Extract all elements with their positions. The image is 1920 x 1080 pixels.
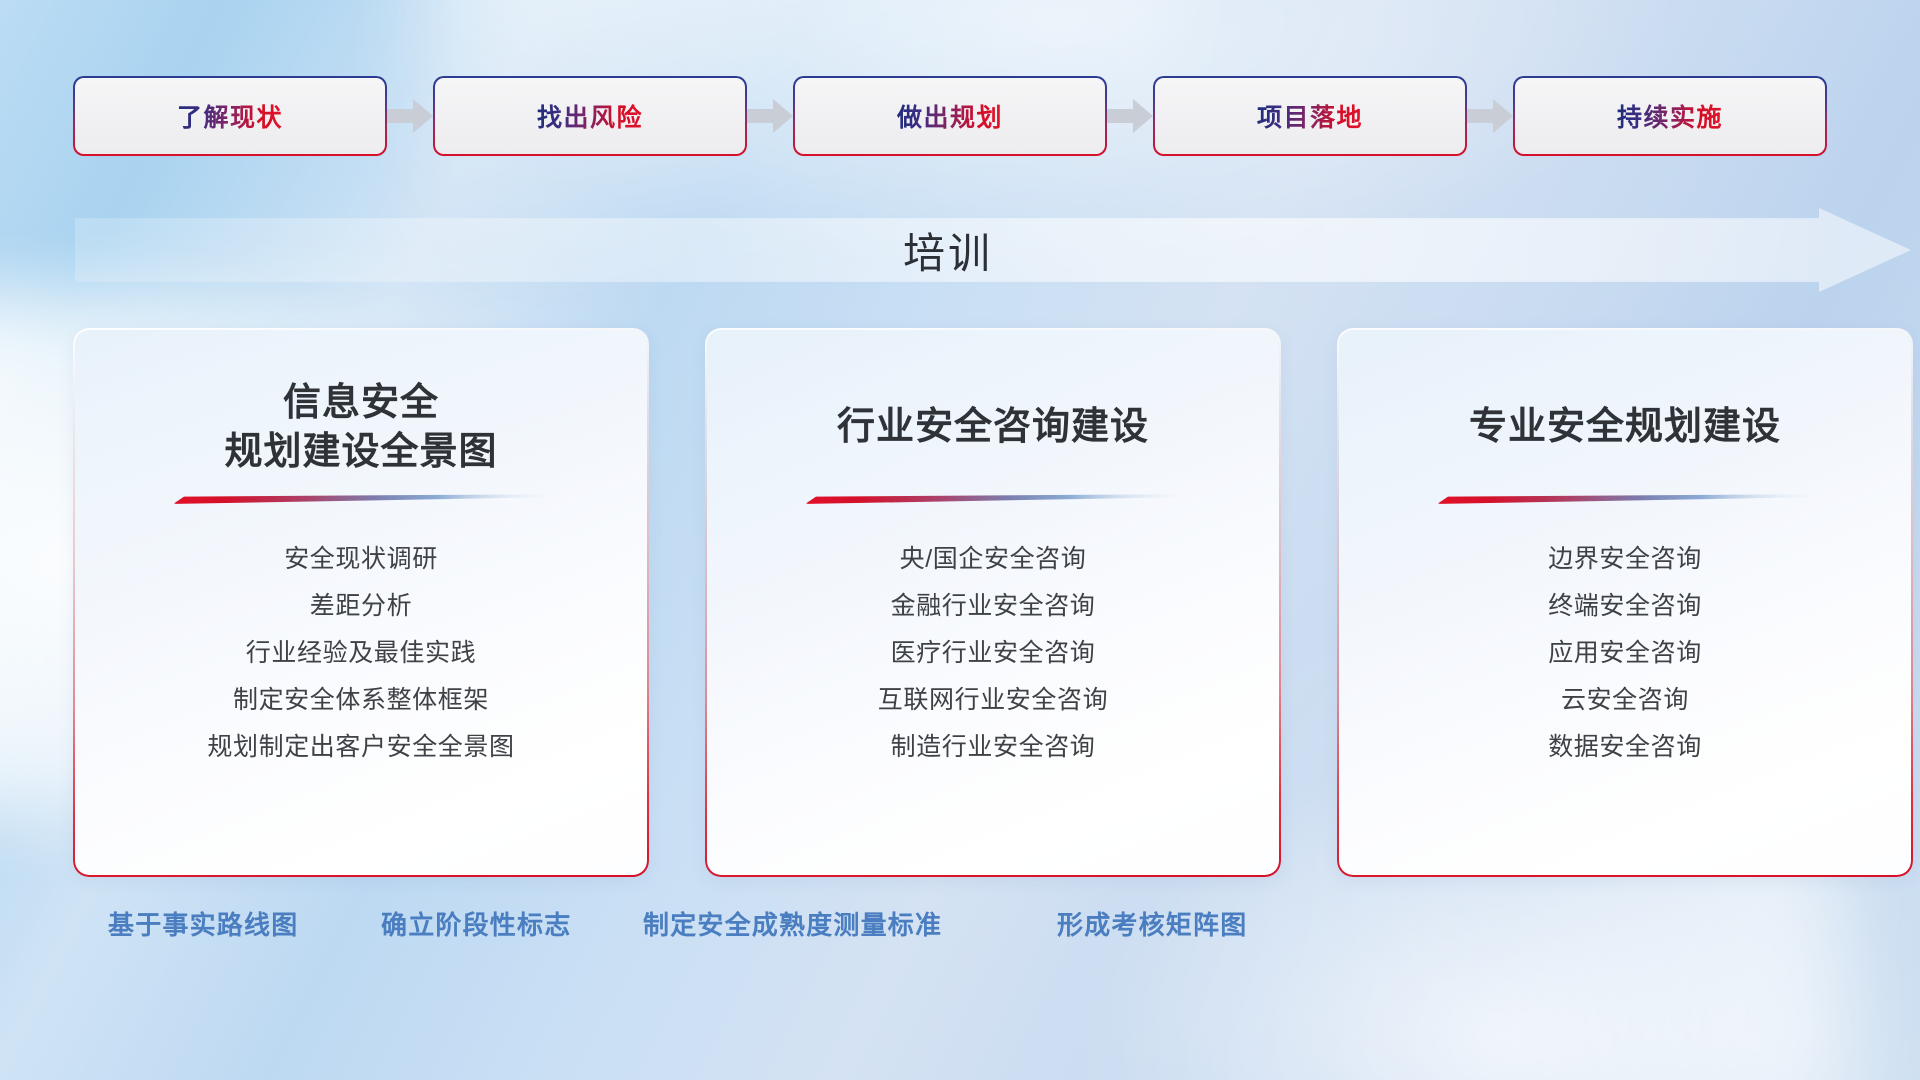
card-inner: 信息安全 规划建设全景图安全现状调研差距分析行业经验及最佳实践制定安全体系整体框… [101,330,621,875]
card-title: 信息安全 规划建设全景图 [224,378,497,478]
step-label: 持续实施 [1617,98,1723,134]
step-label: 项目落地 [1257,98,1363,134]
card-divider-accent [1438,492,1812,506]
caption-row: 基于事实路线图确立阶段性标志制定安全成熟度测量标准形成考核矩阵图 [0,905,1920,965]
step-box-3[interactable]: 做出规划 [795,78,1105,154]
list-item: 安全现状调研 [101,536,621,583]
arrow-right-icon [1465,96,1515,136]
list-item: 制定安全体系整体框架 [101,677,621,724]
card-1[interactable]: 信息安全 规划建设全景图安全现状调研差距分析行业经验及最佳实践制定安全体系整体框… [75,330,647,875]
card-item-list: 央/国企安全咨询金融行业安全咨询医疗行业安全咨询互联网行业安全咨询制造行业安全咨… [733,536,1253,771]
list-item: 医疗行业安全咨询 [733,630,1253,677]
caption-2: 确立阶段性标志 [381,905,571,942]
card-inner: 专业安全规划建设边界安全咨询终端安全咨询应用安全咨询云安全咨询数据安全咨询 [1365,330,1885,875]
list-item: 边界安全咨询 [1365,536,1885,583]
banner-title: 培训 [75,208,1911,292]
card-item-list: 边界安全咨询终端安全咨询应用安全咨询云安全咨询数据安全咨询 [1365,536,1885,771]
step-label: 找出风险 [537,98,643,134]
list-item: 行业经验及最佳实践 [101,630,621,677]
card-inner: 行业安全咨询建设央/国企安全咨询金融行业安全咨询医疗行业安全咨询互联网行业安全咨… [733,330,1253,875]
card-title: 行业安全咨询建设 [837,378,1149,478]
caption-1: 基于事实路线图 [108,905,298,942]
step-box-1[interactable]: 了解现状 [75,78,385,154]
process-step-row: 了解现状找出风险做出规划项目落地持续实施 [0,78,1920,154]
card-divider-accent [806,492,1180,506]
caption-3: 制定安全成熟度测量标准 [643,905,942,942]
step-box-5[interactable]: 持续实施 [1515,78,1825,154]
list-item: 应用安全咨询 [1365,630,1885,677]
list-item: 终端安全咨询 [1365,583,1885,630]
list-item: 互联网行业安全咨询 [733,677,1253,724]
list-item: 央/国企安全咨询 [733,536,1253,583]
card-title: 专业安全规划建设 [1469,378,1781,478]
card-item-list: 安全现状调研差距分析行业经验及最佳实践制定安全体系整体框架规划制定出客户安全全景… [101,536,621,771]
step-box-2[interactable]: 找出风险 [435,78,745,154]
arrow-right-icon [745,96,795,136]
step-box-4[interactable]: 项目落地 [1155,78,1465,154]
card-divider-accent [174,492,548,506]
list-item: 制造行业安全咨询 [733,724,1253,771]
card-3[interactable]: 专业安全规划建设边界安全咨询终端安全咨询应用安全咨询云安全咨询数据安全咨询 [1339,330,1911,875]
card-2[interactable]: 行业安全咨询建设央/国企安全咨询金融行业安全咨询医疗行业安全咨询互联网行业安全咨… [707,330,1279,875]
list-item: 金融行业安全咨询 [733,583,1253,630]
arrow-right-icon [385,96,435,136]
list-item: 数据安全咨询 [1365,724,1885,771]
list-item: 差距分析 [101,583,621,630]
arrow-right-icon [1105,96,1155,136]
list-item: 规划制定出客户安全全景图 [101,724,621,771]
training-banner: 培训 [75,208,1911,292]
card-row: 信息安全 规划建设全景图安全现状调研差距分析行业经验及最佳实践制定安全体系整体框… [75,330,1911,875]
step-label: 做出规划 [897,98,1003,134]
caption-4: 形成考核矩阵图 [1057,905,1247,942]
list-item: 云安全咨询 [1365,677,1885,724]
step-label: 了解现状 [177,98,283,134]
